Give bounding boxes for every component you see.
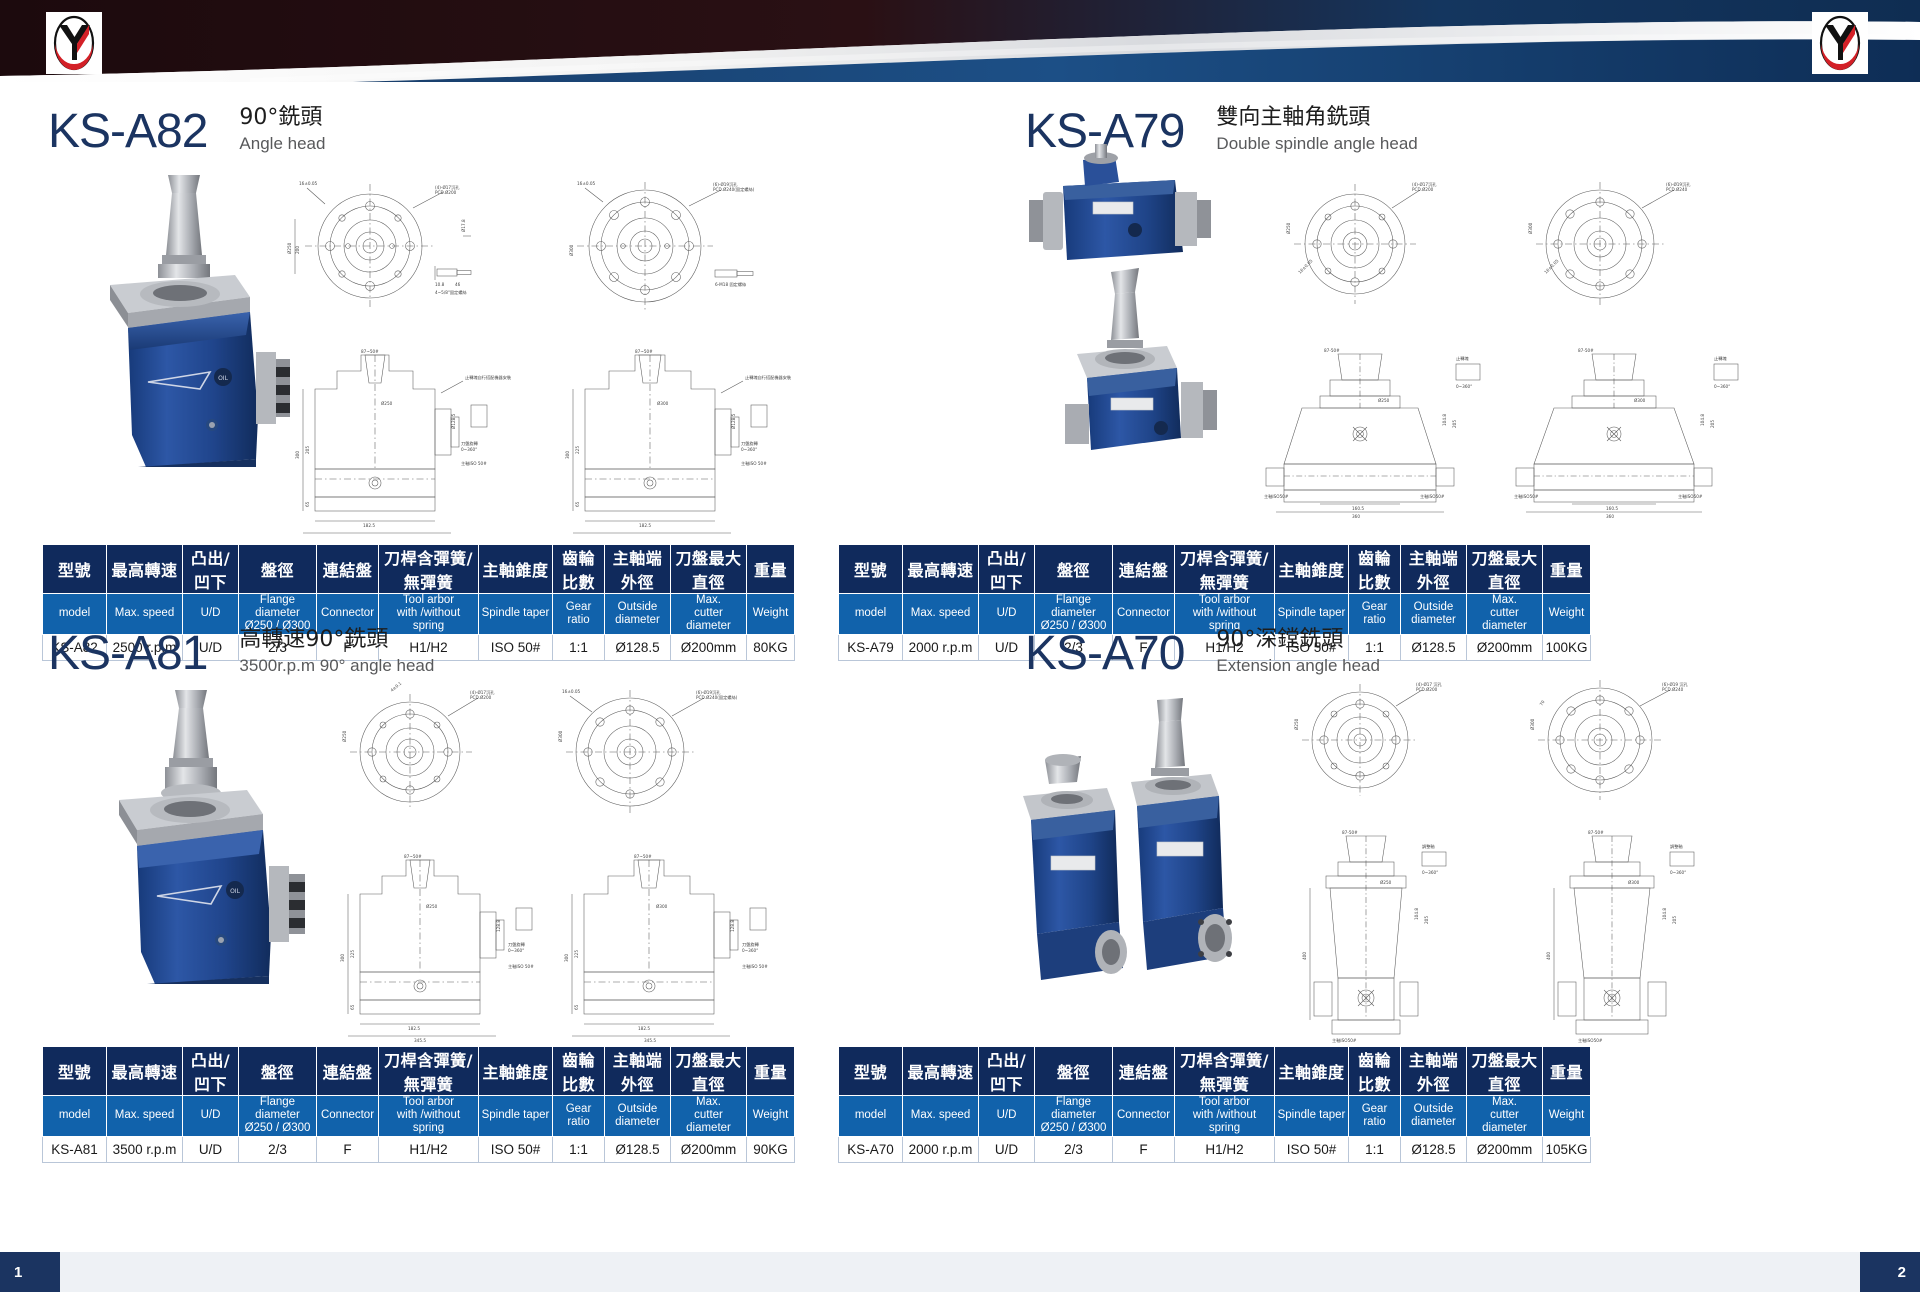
svg-text:16±0.05: 16±0.05 (562, 689, 580, 694)
product-photo-ks-a82: OIL (60, 167, 310, 467)
th-en-10: Weight (747, 1096, 795, 1137)
svg-text:104.8: 104.8 (1662, 908, 1667, 920)
table-header-en: model Max. speed U/D Flange diameterØ250… (43, 1096, 795, 1137)
th-cn-5: 刀桿含彈簧/無彈簧 (1175, 545, 1275, 594)
product-heading-ks-a82: KS-A82 90°銑頭 Angle head (48, 104, 325, 156)
svg-text:Ø300: Ø300 (1634, 398, 1646, 403)
svg-text:主軸ISO50#: 主軸ISO50# (1264, 493, 1289, 500)
th-cn-1: 最高轉速 (903, 545, 979, 594)
spec-table-ks-a81: 型號 最高轉速 凸出/凹下 盤徑 連結盤 刀桿含彈簧/無彈簧 主軸錐度 齒輪比數… (42, 1046, 795, 1163)
th-cn-7: 齒輪比數 (1349, 1047, 1401, 1096)
th-cn-4: 連結盤 (317, 1047, 379, 1096)
th-en-10: Weight (1543, 594, 1591, 635)
company-logo-left (46, 12, 102, 74)
svg-text:345.5: 345.5 (644, 1038, 656, 1042)
th-cn-7: 齒輪比數 (553, 545, 605, 594)
th-en-7: Gearratio (1349, 1096, 1401, 1137)
svg-text:0~360°: 0~360° (1456, 384, 1472, 389)
svg-text:87-50#: 87-50# (1578, 348, 1594, 353)
svg-text:300: 300 (565, 451, 570, 459)
svg-text:400: 400 (1302, 952, 1307, 960)
th-cn-6: 主軸錐度 (1275, 1047, 1349, 1096)
svg-text:160.5: 160.5 (1606, 506, 1618, 511)
th-cn-1: 最高轉速 (107, 545, 183, 594)
svg-text:205: 205 (1672, 916, 1677, 924)
svg-text:PCD.Ø240: PCD.Ø240 (1662, 687, 1684, 692)
th-cn-8: 主軸端外徑 (605, 545, 671, 594)
product-heading-ks-a70: KS-A70 90°深鏜銑頭 Extension angle head (1025, 626, 1380, 678)
th-cn-0: 型號 (43, 1047, 107, 1096)
svg-text:PCD.Ø200: PCD.Ø200 (435, 190, 457, 195)
svg-text:止轉塊自行搭配機器安裝: 止轉塊自行搭配機器安裝 (465, 374, 512, 381)
top-banner (0, 0, 1920, 82)
svg-text:0~360°: 0~360° (741, 447, 757, 452)
page-number-right: 2 (1860, 1252, 1920, 1292)
svg-text:182.5: 182.5 (638, 1026, 650, 1031)
th-cn-8: 主軸端外徑 (605, 1047, 671, 1096)
svg-text:87~50#: 87~50# (635, 349, 653, 354)
svg-text:Ø128.5: Ø128.5 (451, 413, 456, 429)
th-en-10: Weight (1543, 1096, 1591, 1137)
svg-text:400: 400 (1546, 952, 1551, 960)
svg-text:止轉塊: 止轉塊 (1714, 355, 1727, 362)
svg-text:PCD.Ø200: PCD.Ø200 (1416, 687, 1438, 692)
svg-text:182.5: 182.5 (639, 523, 651, 528)
svg-text:16±0.05: 16±0.05 (1297, 258, 1314, 275)
svg-text:65: 65 (574, 1004, 579, 1010)
th-cn-4: 連結盤 (317, 545, 379, 594)
svg-text:0~360°: 0~360° (461, 447, 477, 452)
th-en-6: Spindle taper (1275, 1096, 1349, 1137)
product-photo-ks-a81: OIL (75, 684, 325, 984)
th-en-5: Tool arborwith /without spring (379, 1096, 479, 1137)
svg-text:刀盤旋轉: 刀盤旋轉 (508, 941, 526, 948)
svg-text:46: 46 (455, 282, 461, 287)
svg-text:主軸ISO50#: 主軸ISO50# (1678, 493, 1703, 500)
product-photo-ks-a70 (1015, 690, 1255, 1010)
cell-max-cutter-diameter: Ø200mm (671, 1136, 747, 1162)
th-cn-5: 刀桿含彈簧/無彈簧 (1175, 1047, 1275, 1096)
th-cn-3: 盤徑 (1035, 1047, 1113, 1096)
footer-white-strip (0, 1292, 1920, 1311)
cell-ud: U/D (979, 1136, 1035, 1162)
svg-text:0~360°: 0~360° (1714, 384, 1730, 389)
cell-gear-ratio: 1:1 (553, 1136, 605, 1162)
svg-text:Ø300: Ø300 (1628, 880, 1640, 885)
svg-text:Ø17.8: Ø17.8 (461, 219, 466, 232)
svg-text:刀盤旋轉: 刀盤旋轉 (741, 440, 759, 447)
svg-text:主軸ISO 50#: 主軸ISO 50# (742, 963, 768, 970)
svg-text:16±0.05: 16±0.05 (577, 181, 595, 186)
technical-drawing-ks-a79: (4)-Ø17沉孔 PCD.Ø200 Ø250 16±0.05 (6)-Ø19沉… (1260, 174, 1900, 534)
th-en-9: Max.cutter diameter (1467, 594, 1543, 635)
th-en-8: Outsidediameter (1401, 594, 1467, 635)
th-en-0: model (839, 594, 903, 635)
cell-weight: 105KG (1543, 1136, 1591, 1162)
svg-text:87-50#: 87-50# (1588, 830, 1604, 835)
svg-text:104.8: 104.8 (1442, 414, 1447, 426)
cell-weight: 90KG (747, 1136, 795, 1162)
svg-text:205: 205 (305, 446, 310, 454)
svg-text:128.8: 128.8 (496, 920, 501, 932)
svg-text:主軸ISO50#: 主軸ISO50# (1514, 493, 1539, 500)
svg-text:205: 205 (1452, 420, 1457, 428)
th-cn-0: 型號 (839, 1047, 903, 1096)
svg-text:Ø250: Ø250 (381, 401, 393, 406)
th-en-8: Outsidediameter (605, 594, 671, 635)
th-cn-9: 刀盤最大直徑 (1467, 545, 1543, 594)
th-cn-2: 凸出/凹下 (979, 545, 1035, 594)
th-en-9: Max.cutter diameter (671, 594, 747, 635)
product-name-cn: 雙向主軸角銑頭 (1216, 104, 1417, 132)
svg-text:主軸ISO50#: 主軸ISO50# (1332, 1037, 1357, 1044)
svg-text:360: 360 (1606, 514, 1614, 519)
svg-text:止轉塊自行搭配機器安裝: 止轉塊自行搭配機器安裝 (745, 374, 792, 381)
cell-spindle-taper: ISO 50# (479, 1136, 553, 1162)
svg-text:104.8: 104.8 (1414, 908, 1419, 920)
th-en-10: Weight (747, 594, 795, 635)
svg-text:182.5: 182.5 (363, 523, 375, 528)
th-cn-1: 最高轉速 (903, 1047, 979, 1096)
th-cn-2: 凸出/凹下 (979, 1047, 1035, 1096)
th-cn-9: 刀盤最大直徑 (671, 545, 747, 594)
svg-text:主軸ISO50#: 主軸ISO50# (1420, 493, 1445, 500)
svg-text:Ø250: Ø250 (1380, 880, 1392, 885)
svg-text:300: 300 (564, 954, 569, 962)
product-name-cn: 90°銑頭 (239, 104, 325, 132)
cell-outside-diameter: Ø128.5 (1401, 1136, 1467, 1162)
th-cn-8: 主軸端外徑 (1401, 545, 1467, 594)
cell-model: KS-A70 (839, 1136, 903, 1162)
th-cn-9: 刀盤最大直徑 (671, 1047, 747, 1096)
th-cn-3: 盤徑 (239, 1047, 317, 1096)
svg-text:Ø300: Ø300 (569, 244, 574, 256)
svg-text:PCD.Ø240: PCD.Ø240 (1666, 187, 1688, 192)
svg-text:87-50#: 87-50# (1324, 348, 1340, 353)
th-cn-6: 主軸錐度 (479, 1047, 553, 1096)
th-cn-3: 盤徑 (239, 545, 317, 594)
svg-text:300: 300 (340, 954, 345, 962)
cell-tool-arbor: H1/H2 (379, 1136, 479, 1162)
cell-max-cutter-diameter: Ø200mm (1467, 1136, 1543, 1162)
svg-text:0~360°: 0~360° (1670, 870, 1686, 875)
th-cn-3: 盤徑 (1035, 545, 1113, 594)
th-cn-6: 主軸錐度 (479, 545, 553, 594)
svg-text:PCD.Ø240(固定螺絲): PCD.Ø240(固定螺絲) (696, 694, 738, 701)
product-name-en: Double spindle angle head (1216, 133, 1417, 154)
svg-text:345.5: 345.5 (414, 1038, 426, 1042)
cell-connector: F (1113, 1136, 1175, 1162)
svg-text:0~360°: 0~360° (1422, 870, 1438, 875)
svg-text:225: 225 (574, 950, 579, 958)
svg-text:Ø250: Ø250 (426, 904, 438, 909)
svg-text:65: 65 (350, 1004, 355, 1010)
svg-text:止轉塊: 止轉塊 (1456, 355, 1469, 362)
svg-text:300: 300 (295, 451, 300, 459)
svg-text:16±0.05: 16±0.05 (299, 181, 317, 186)
th-en-5: Tool arborwith /without spring (1175, 1096, 1275, 1137)
product-name-en: Extension angle head (1216, 655, 1380, 676)
svg-text:Ø300: Ø300 (558, 730, 563, 742)
th-cn-6: 主軸錐度 (1275, 545, 1349, 594)
th-cn-0: 型號 (43, 545, 107, 594)
th-en-2: U/D (979, 1096, 1035, 1137)
svg-text:65: 65 (575, 501, 580, 507)
svg-text:182.5: 182.5 (408, 1026, 420, 1031)
cell-model: KS-A81 (43, 1136, 107, 1162)
th-en-8: Outsidediameter (605, 1096, 671, 1137)
svg-text:Ø250: Ø250 (1286, 222, 1291, 234)
svg-text:Ø300: Ø300 (1530, 718, 1535, 730)
svg-text:10.8: 10.8 (435, 282, 445, 287)
svg-text:調整軸: 調整軸 (1670, 843, 1683, 850)
product-photo-ks-a79 (1015, 142, 1245, 462)
technical-drawing-ks-a82: 16±0.05 (4)-Ø17沉孔 PCD.Ø200 Ø250 200 10.8… (285, 174, 945, 534)
th-cn-4: 連結盤 (1113, 545, 1175, 594)
th-cn-7: 齒輪比數 (1349, 545, 1401, 594)
th-en-1: Max. speed (107, 1096, 183, 1137)
svg-text:Ø300: Ø300 (656, 904, 668, 909)
th-en-9: Max.cutter diameter (1467, 1096, 1543, 1137)
svg-text:4~5/8"固定螺絲: 4~5/8"固定螺絲 (435, 289, 467, 296)
svg-text:360: 360 (1352, 514, 1360, 519)
th-cn-10: 重量 (1543, 545, 1591, 594)
cell-spindle-taper: ISO 50# (1275, 1136, 1349, 1162)
cell-connector: F (317, 1136, 379, 1162)
th-en-4: Connector (317, 1096, 379, 1137)
svg-text:16±0.05: 16±0.05 (1543, 258, 1560, 275)
svg-text:0~360°: 0~360° (742, 948, 758, 953)
svg-text:205: 205 (1710, 420, 1715, 428)
svg-text:刀盤旋轉: 刀盤旋轉 (461, 440, 479, 447)
th-cn-9: 刀盤最大直徑 (1467, 1047, 1543, 1096)
product-heading-ks-a81: KS-A81 高轉速90°銑頭 3500r.p.m 90° angle head (48, 626, 434, 678)
th-cn-5: 刀桿含彈簧/無彈簧 (379, 545, 479, 594)
svg-text:主軸ISO50#: 主軸ISO50# (1578, 1037, 1603, 1044)
th-en-3: Flange diameterØ250 / Ø300 (1035, 1096, 1113, 1137)
table-row: KS-A81 3500 r.p.m U/D 2/3 F H1/H2 ISO 50… (43, 1136, 795, 1162)
table-header-cn: 型號 最高轉速 凸出/凹下 盤徑 連結盤 刀桿含彈簧/無彈簧 主軸錐度 齒輪比數… (839, 545, 1591, 594)
product-block-ks-a70: KS-A70 90°深鏜銑頭 Extension angle head (960, 642, 1920, 1252)
svg-text:160.5: 160.5 (1352, 506, 1364, 511)
svg-text:主軸ISO 50#: 主軸ISO 50# (741, 460, 767, 467)
th-cn-8: 主軸端外徑 (1401, 1047, 1467, 1096)
svg-text:104.8: 104.8 (1700, 414, 1705, 426)
svg-text:Ø300: Ø300 (657, 401, 669, 406)
footer-bar (0, 1252, 1920, 1292)
th-cn-1: 最高轉速 (107, 1047, 183, 1096)
svg-text:225: 225 (575, 446, 580, 454)
th-en-0: model (839, 1096, 903, 1137)
svg-text:調整軸: 調整軸 (1422, 843, 1435, 850)
th-en-3: Flange diameterØ250 / Ø300 (239, 1096, 317, 1137)
svg-text:128.8: 128.8 (730, 920, 735, 932)
cell-tool-arbor: H1/H2 (1175, 1136, 1275, 1162)
th-cn-10: 重量 (1543, 1047, 1591, 1096)
technical-drawing-ks-a70: (4)-Ø17 沉孔 PCD.Ø200 Ø250 (6)-Ø19 沉孔 PCD.… (1270, 678, 1900, 1048)
spec-table-ks-a70: 型號 最高轉速 凸出/凹下 盤徑 連結盤 刀桿含彈簧/無彈簧 主軸錐度 齒輪比數… (838, 1046, 1591, 1163)
svg-text:87~50#: 87~50# (404, 854, 422, 859)
product-block-ks-a82: KS-A82 90°銑頭 Angle head (0, 82, 960, 642)
svg-text:PCD.Ø200: PCD.Ø200 (470, 695, 492, 700)
table-header-en: model Max. speed U/D Flange diameterØ250… (839, 1096, 1591, 1137)
svg-text:Ø250: Ø250 (287, 242, 292, 254)
cell-max-speed: 2000 r.p.m (903, 1136, 979, 1162)
svg-text:205: 205 (1424, 916, 1429, 924)
th-en-1: Max. speed (903, 594, 979, 635)
svg-text:刀盤旋轉: 刀盤旋轉 (742, 941, 760, 948)
th-cn-10: 重量 (747, 545, 795, 594)
technical-drawing-ks-a81: (4)-Ø17沉孔 PCD.Ø200 Ø250 4±0.1 16±0.05 (6… (330, 682, 950, 1042)
product-name-en: Angle head (239, 133, 325, 154)
svg-text:Ø250: Ø250 (342, 730, 347, 742)
table-header-cn: 型號 最高轉速 凸出/凹下 盤徑 連結盤 刀桿含彈簧/無彈簧 主軸錐度 齒輪比數… (43, 545, 795, 594)
svg-text:87-50#: 87-50# (1342, 830, 1358, 835)
svg-text:Ø250: Ø250 (1294, 718, 1299, 730)
cell-outside-diameter: Ø128.5 (605, 1136, 671, 1162)
th-cn-0: 型號 (839, 545, 903, 594)
product-block-ks-a79: KS-A79 雙向主軸角銑頭 Double spindle angle head (960, 82, 1920, 642)
svg-text:65: 65 (305, 501, 310, 507)
th-en-8: Outsidediameter (1401, 1096, 1467, 1137)
th-en-6: Spindle taper (479, 594, 553, 635)
cell-flange-diameter: 2/3 (1035, 1136, 1113, 1162)
page-number-left: 1 (0, 1252, 60, 1292)
product-code: KS-A81 (48, 630, 207, 678)
svg-text:70: 70 (1539, 699, 1546, 706)
th-en-9: Max.cutter diameter (671, 1096, 747, 1137)
svg-text:200: 200 (295, 246, 300, 254)
product-code: KS-A70 (1025, 630, 1184, 678)
th-en-7: Gearratio (553, 1096, 605, 1137)
cell-flange-diameter: 2/3 (239, 1136, 317, 1162)
th-en-4: Connector (1113, 1096, 1175, 1137)
product-block-ks-a81: KS-A81 高轉速90°銑頭 3500r.p.m 90° angle head (0, 642, 960, 1252)
svg-text:Ø300: Ø300 (1528, 222, 1533, 234)
svg-text:87~50#: 87~50# (361, 349, 379, 354)
cell-ud: U/D (183, 1136, 239, 1162)
svg-text:OIL: OIL (230, 888, 240, 895)
page-footer: 1 2 (0, 1252, 1920, 1311)
product-name-cn: 90°深鏜銑頭 (1216, 626, 1380, 654)
th-cn-5: 刀桿含彈簧/無彈簧 (379, 1047, 479, 1096)
table-header-cn: 型號 最高轉速 凸出/凹下 盤徑 連結盤 刀桿含彈簧/無彈簧 主軸錐度 齒輪比數… (43, 1047, 795, 1096)
table-row: KS-A70 2000 r.p.m U/D 2/3 F H1/H2 ISO 50… (839, 1136, 1591, 1162)
svg-text:87~50#: 87~50# (634, 854, 652, 859)
svg-text:主軸ISO 50#: 主軸ISO 50# (461, 460, 487, 467)
th-en-7: Gearratio (553, 594, 605, 635)
svg-text:225: 225 (350, 950, 355, 958)
svg-text:PCD.Ø240(固定螺絲): PCD.Ø240(固定螺絲) (713, 186, 755, 193)
th-cn-4: 連結盤 (1113, 1047, 1175, 1096)
product-code: KS-A82 (48, 108, 207, 156)
svg-text:Ø250: Ø250 (1378, 398, 1390, 403)
th-cn-2: 凸出/凹下 (183, 545, 239, 594)
product-name-cn: 高轉速90°銑頭 (239, 626, 434, 654)
th-en-2: U/D (183, 1096, 239, 1137)
product-name-en: 3500r.p.m 90° angle head (239, 655, 434, 676)
svg-text:4±0.1: 4±0.1 (389, 682, 402, 693)
th-en-0: model (43, 1096, 107, 1137)
cell-max-speed: 3500 r.p.m (107, 1136, 183, 1162)
th-cn-7: 齒輪比數 (553, 1047, 605, 1096)
svg-text:PCD.Ø200: PCD.Ø200 (1412, 187, 1434, 192)
svg-text:主軸ISO 50#: 主軸ISO 50# (508, 963, 534, 970)
company-logo-right (1812, 12, 1868, 74)
table-header-cn: 型號 最高轉速 凸出/凹下 盤徑 連結盤 刀桿含彈簧/無彈簧 主軸錐度 齒輪比數… (839, 1047, 1591, 1096)
th-en-1: Max. speed (903, 1096, 979, 1137)
cell-gear-ratio: 1:1 (1349, 1136, 1401, 1162)
th-cn-10: 重量 (747, 1047, 795, 1096)
th-en-6: Spindle taper (479, 1096, 553, 1137)
svg-text:0~360°: 0~360° (508, 948, 524, 953)
svg-text:6-M18 固定螺絲: 6-M18 固定螺絲 (715, 281, 747, 288)
svg-text:OIL: OIL (218, 375, 228, 382)
svg-text:Ø128.5: Ø128.5 (731, 413, 736, 429)
th-cn-2: 凸出/凹下 (183, 1047, 239, 1096)
